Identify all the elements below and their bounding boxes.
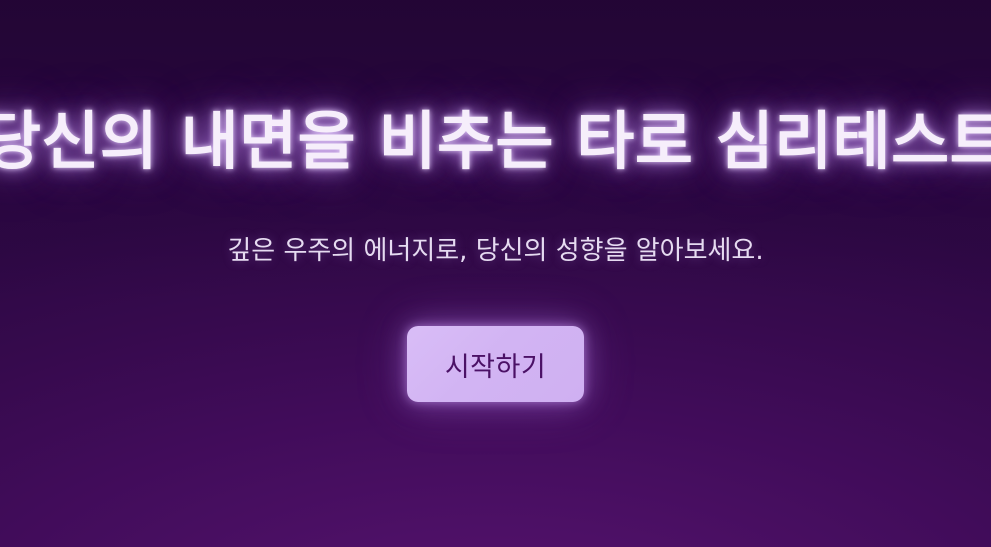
page-title: 당신의 내면을 비추는 타로 심리테스트 xyxy=(0,107,991,178)
hero-content: 당신의 내면을 비추는 타로 심리테스트 깊은 우주의 에너지로, 당신의 성향… xyxy=(0,0,991,547)
hero-screen: 당신의 내면을 비추는 타로 심리테스트 깊은 우주의 에너지로, 당신의 성향… xyxy=(0,0,991,547)
page-subtitle: 깊은 우주의 에너지로, 당신의 성향을 알아보세요. xyxy=(227,235,763,269)
cta-container: 시작하기 xyxy=(407,326,584,402)
start-button[interactable]: 시작하기 xyxy=(407,326,584,402)
